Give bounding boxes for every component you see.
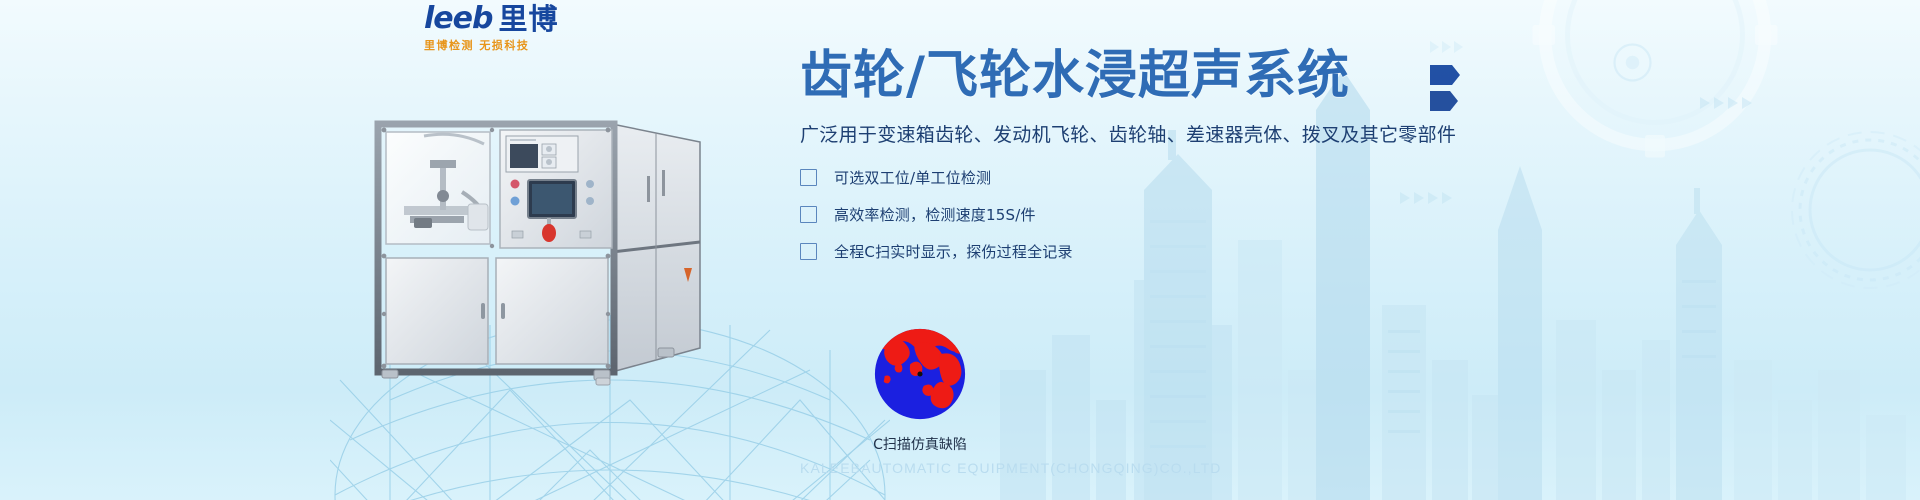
- cscan-figure: C扫描仿真缺陷: [840, 325, 1000, 454]
- list-item: 高效率检测，检测速度15S/件: [800, 204, 1620, 225]
- cscan-defect-image: [871, 325, 969, 423]
- arrow-chevrons-icon: [1700, 95, 1770, 111]
- logo-wordmark: leeb: [424, 4, 492, 34]
- logo-wordmark-chinese: 里博: [498, 5, 558, 34]
- empty-checkbox-icon[interactable]: [800, 243, 817, 260]
- subtitle: 广泛用于变速箱齿轮、发动机飞轮、齿轮轴、差速器壳体、拨叉及其它零部件: [800, 120, 1620, 147]
- logo-wordmark-row: leeb 里博: [424, 4, 634, 34]
- promo-banner: leeb 里博 里博检测 无损科技: [0, 0, 1920, 500]
- cscan-caption: C扫描仿真缺陷: [840, 434, 1000, 454]
- list-item: 可选双工位/单工位检测: [800, 167, 1620, 188]
- feature-list: 可选双工位/单工位检测 高效率检测，检测速度15S/件 全程C扫实时显示，探伤过…: [800, 167, 1620, 262]
- ultrasonic-immersion-system-photo: [344, 100, 744, 390]
- company-name: KALEEBAUTOMATIC EQUIPMENT(CHONGQING)CO.,…: [800, 460, 1221, 476]
- brand-logo[interactable]: leeb 里博 里博检测 无损科技: [424, 4, 634, 50]
- empty-checkbox-icon[interactable]: [800, 206, 817, 223]
- banner-content: 齿轮/飞轮水浸超声系统 广泛用于变速箱齿轮、发动机飞轮、齿轮轴、差速器壳体、拨叉…: [800, 48, 1620, 278]
- empty-checkbox-icon[interactable]: [800, 169, 817, 186]
- feature-label: 全程C扫实时显示，探伤过程全记录: [834, 241, 1073, 262]
- page-title: 齿轮/飞轮水浸超声系统: [800, 48, 1620, 104]
- list-item: 全程C扫实时显示，探伤过程全记录: [800, 241, 1620, 262]
- machine-illustration: [344, 100, 744, 390]
- logo-tagline: 里博检测 无损科技: [424, 37, 634, 53]
- gear-ring-medium-icon: [1770, 110, 1920, 310]
- feature-label: 高效率检测，检测速度15S/件: [834, 204, 1036, 225]
- feature-label: 可选双工位/单工位检测: [834, 167, 991, 188]
